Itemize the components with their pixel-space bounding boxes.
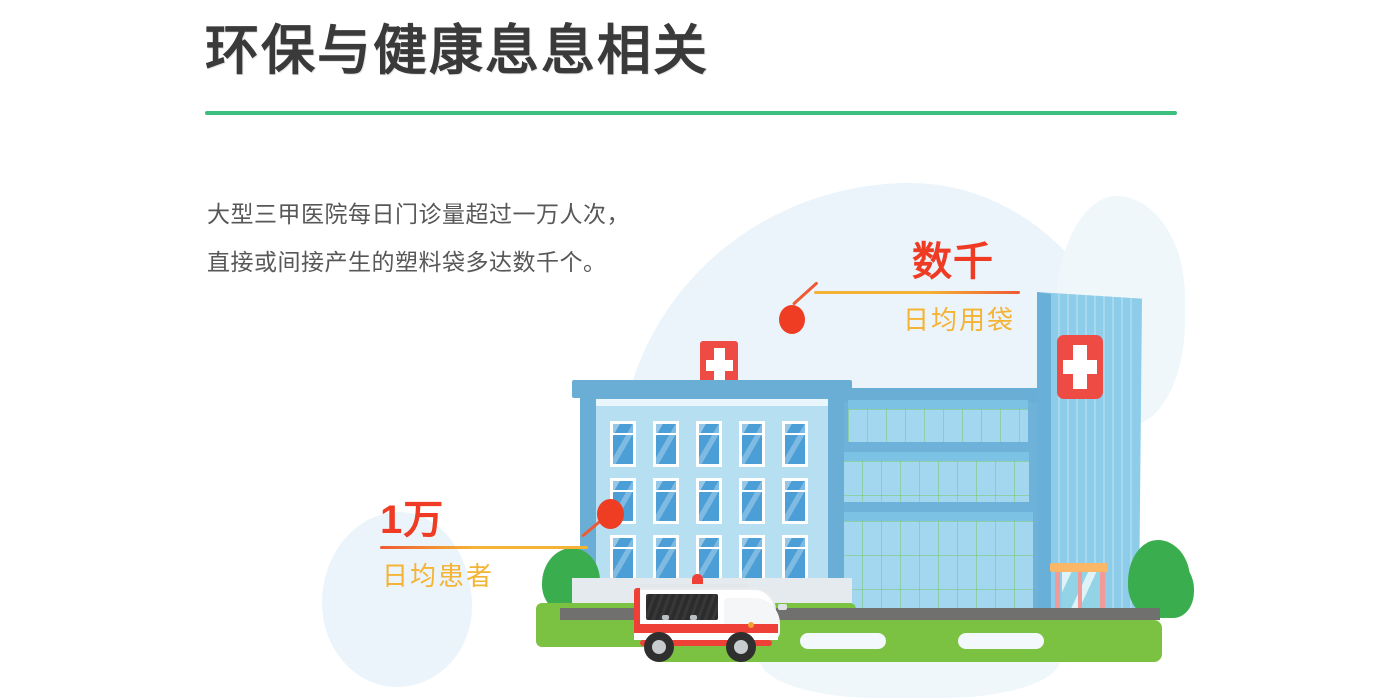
building-window [696,478,722,524]
building-window [653,478,679,524]
red-cross-badge-tower [1057,335,1103,399]
glass-panel-grid [843,461,1029,502]
glass-panel-grid [848,409,1028,442]
ambulance-mirror [778,604,787,610]
glass-panel-grid [843,521,1033,618]
infographic-page: 环保与健康息息相关 大型三甲医院每日门诊量超过一万人次，直接或间接产生的塑料袋多… [0,0,1400,700]
ambulance-window-sheen [646,594,718,620]
main-building-facade-trim [596,399,828,406]
ambulance-side-vent [662,615,669,620]
annotation-leader-line-bags [814,291,1020,294]
ambulance-side-vent [690,615,697,620]
glass-panel-header [843,452,1029,461]
glass-panel [843,452,1029,502]
road-marking [800,633,886,649]
hospital-illustration [0,0,1400,700]
annotation-label-bags: 日均用袋 [903,300,1015,337]
road-marking [958,633,1044,649]
glass-panel-header [848,400,1028,409]
annotation-marker-dot-patients [597,499,624,529]
building-window [653,421,679,467]
building-window [610,421,636,467]
annotation-value-patients: 1万 [380,487,444,545]
building-window [782,421,808,467]
annotation-label-patients: 日均患者 [382,556,494,593]
glass-panel-header [843,512,1033,521]
ambulance-wheel [726,632,756,662]
building-window [782,478,808,524]
glass-panel [848,400,1028,442]
annotation-value-bags: 数千 [912,229,994,287]
annotation-leader-line-patients [380,546,588,549]
ambulance-wheel [644,632,674,662]
tower-left-edge [1037,292,1051,622]
building-window [696,421,722,467]
annotation-marker-dot-bags [779,305,805,334]
building-window [739,421,765,467]
glass-panel [843,512,1033,618]
cross-horizontal-bar [706,360,733,371]
ambulance-indicator-light [748,622,754,628]
ambulance [628,570,788,662]
cross-horizontal-bar [1063,360,1097,374]
entrance-canopy-roof [1050,563,1108,572]
building-window [739,478,765,524]
